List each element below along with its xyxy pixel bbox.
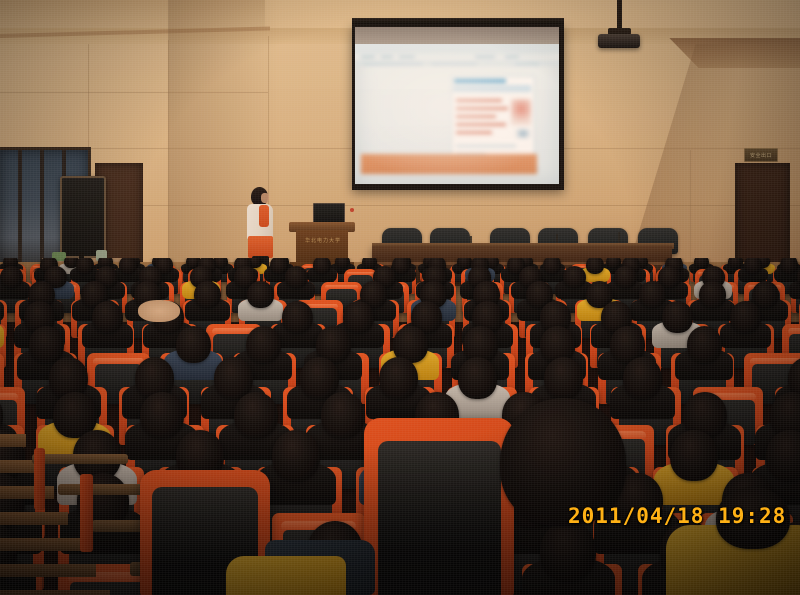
foreground-seat: [364, 418, 514, 595]
projected-text-line: [456, 123, 506, 126]
projected-text-line: [456, 107, 508, 110]
projection-screen: [352, 18, 564, 190]
podium-microphone: [350, 208, 354, 212]
aisle-step: [0, 538, 82, 551]
audience-head: [176, 326, 211, 363]
projected-text-line: [456, 99, 502, 102]
audience-head: [76, 258, 94, 274]
audience-head: [730, 301, 761, 333]
audience-head: [670, 430, 718, 481]
audience-head: [272, 430, 320, 481]
seat-armrest: [32, 454, 128, 464]
audience-head: [687, 326, 722, 363]
audience-head: [614, 266, 637, 288]
projected-tick: [363, 63, 423, 65]
seat-post: [34, 448, 45, 510]
window-mullion: [40, 150, 44, 275]
audience-head: [140, 392, 184, 438]
audience-head: [752, 281, 779, 308]
audience-head: [300, 357, 339, 399]
audience-head: [234, 392, 278, 438]
audience-head: [119, 258, 137, 274]
seat-post: [80, 474, 93, 552]
audience-head: [285, 266, 308, 288]
audience-hand: [138, 300, 180, 322]
audience-head: [282, 301, 313, 333]
aisle-step: [0, 590, 110, 595]
projected-text-line: [456, 115, 496, 118]
audience-head: [457, 258, 472, 268]
wall-seam: [140, 205, 800, 206]
presenter-skirt: [248, 236, 273, 258]
audience-head: [623, 357, 662, 399]
audience-head: [92, 301, 123, 333]
screen-surface: [355, 44, 559, 184]
projected-logo-icon: [516, 129, 530, 138]
screen-top-band: [355, 27, 559, 45]
podium-plate-text: 华北电力大学: [303, 236, 343, 244]
audience-head: [639, 281, 666, 308]
audience-head: [586, 258, 604, 274]
loudspeaker-icon: [60, 176, 106, 258]
audience-head: [343, 301, 374, 333]
projected-footer-line: [456, 145, 516, 147]
audience-head: [543, 258, 561, 274]
audience-head: [29, 326, 64, 363]
audience-head: [563, 266, 586, 288]
presenter-face: [261, 193, 269, 203]
audience-head: [0, 266, 23, 288]
window-mullion: [18, 150, 22, 275]
wall-seam: [88, 44, 89, 164]
presenter-scarf: [259, 205, 269, 227]
audience-head: [379, 357, 418, 399]
audience-head: [540, 521, 596, 581]
audience-head: [699, 281, 726, 308]
projected-tick: [505, 56, 519, 58]
audience-head: [766, 430, 800, 481]
audience-head: [313, 258, 331, 274]
projected-seal-icon: [511, 99, 531, 125]
projected-footer-band: [361, 154, 537, 174]
projected-card-bar: [453, 85, 531, 92]
projected-card-title: [454, 79, 506, 83]
aisle-step: [0, 564, 96, 577]
audience-head: [780, 258, 798, 274]
auditorium-photo: 安全出口: [0, 0, 800, 595]
audience-head: [335, 258, 350, 268]
aisle-step: [0, 486, 54, 499]
projected-tick: [475, 56, 495, 58]
audience-head: [728, 258, 743, 268]
projected-tick: [381, 56, 393, 58]
projected-tick: [431, 63, 477, 65]
wall-seam: [0, 92, 268, 93]
audience-head: [246, 326, 281, 363]
audience-head: [321, 392, 365, 438]
exit-sign: 安全出口: [744, 148, 778, 162]
audience-head: [544, 357, 583, 399]
projected-content-card: [451, 76, 535, 164]
projected-text-line: [456, 131, 492, 134]
camera-timestamp: 2011/04/18 19:28: [568, 504, 786, 528]
audience-head: [247, 281, 274, 308]
projected-tick: [399, 56, 415, 58]
aisle-step: [0, 512, 68, 525]
yellow-jacket: [226, 556, 346, 595]
aisle-step: [0, 434, 26, 447]
projected-tick: [515, 63, 539, 65]
ceiling-projector-icon: [598, 34, 640, 48]
audience-head: [662, 301, 693, 333]
audience-head: [744, 258, 762, 274]
audience-head: [362, 258, 377, 268]
audience-head: [458, 357, 497, 399]
projected-toolbar: [355, 44, 559, 54]
projector-pole: [617, 0, 622, 30]
audience-head: [194, 281, 221, 308]
projected-tick: [361, 56, 375, 58]
wall-seam: [168, 40, 169, 290]
